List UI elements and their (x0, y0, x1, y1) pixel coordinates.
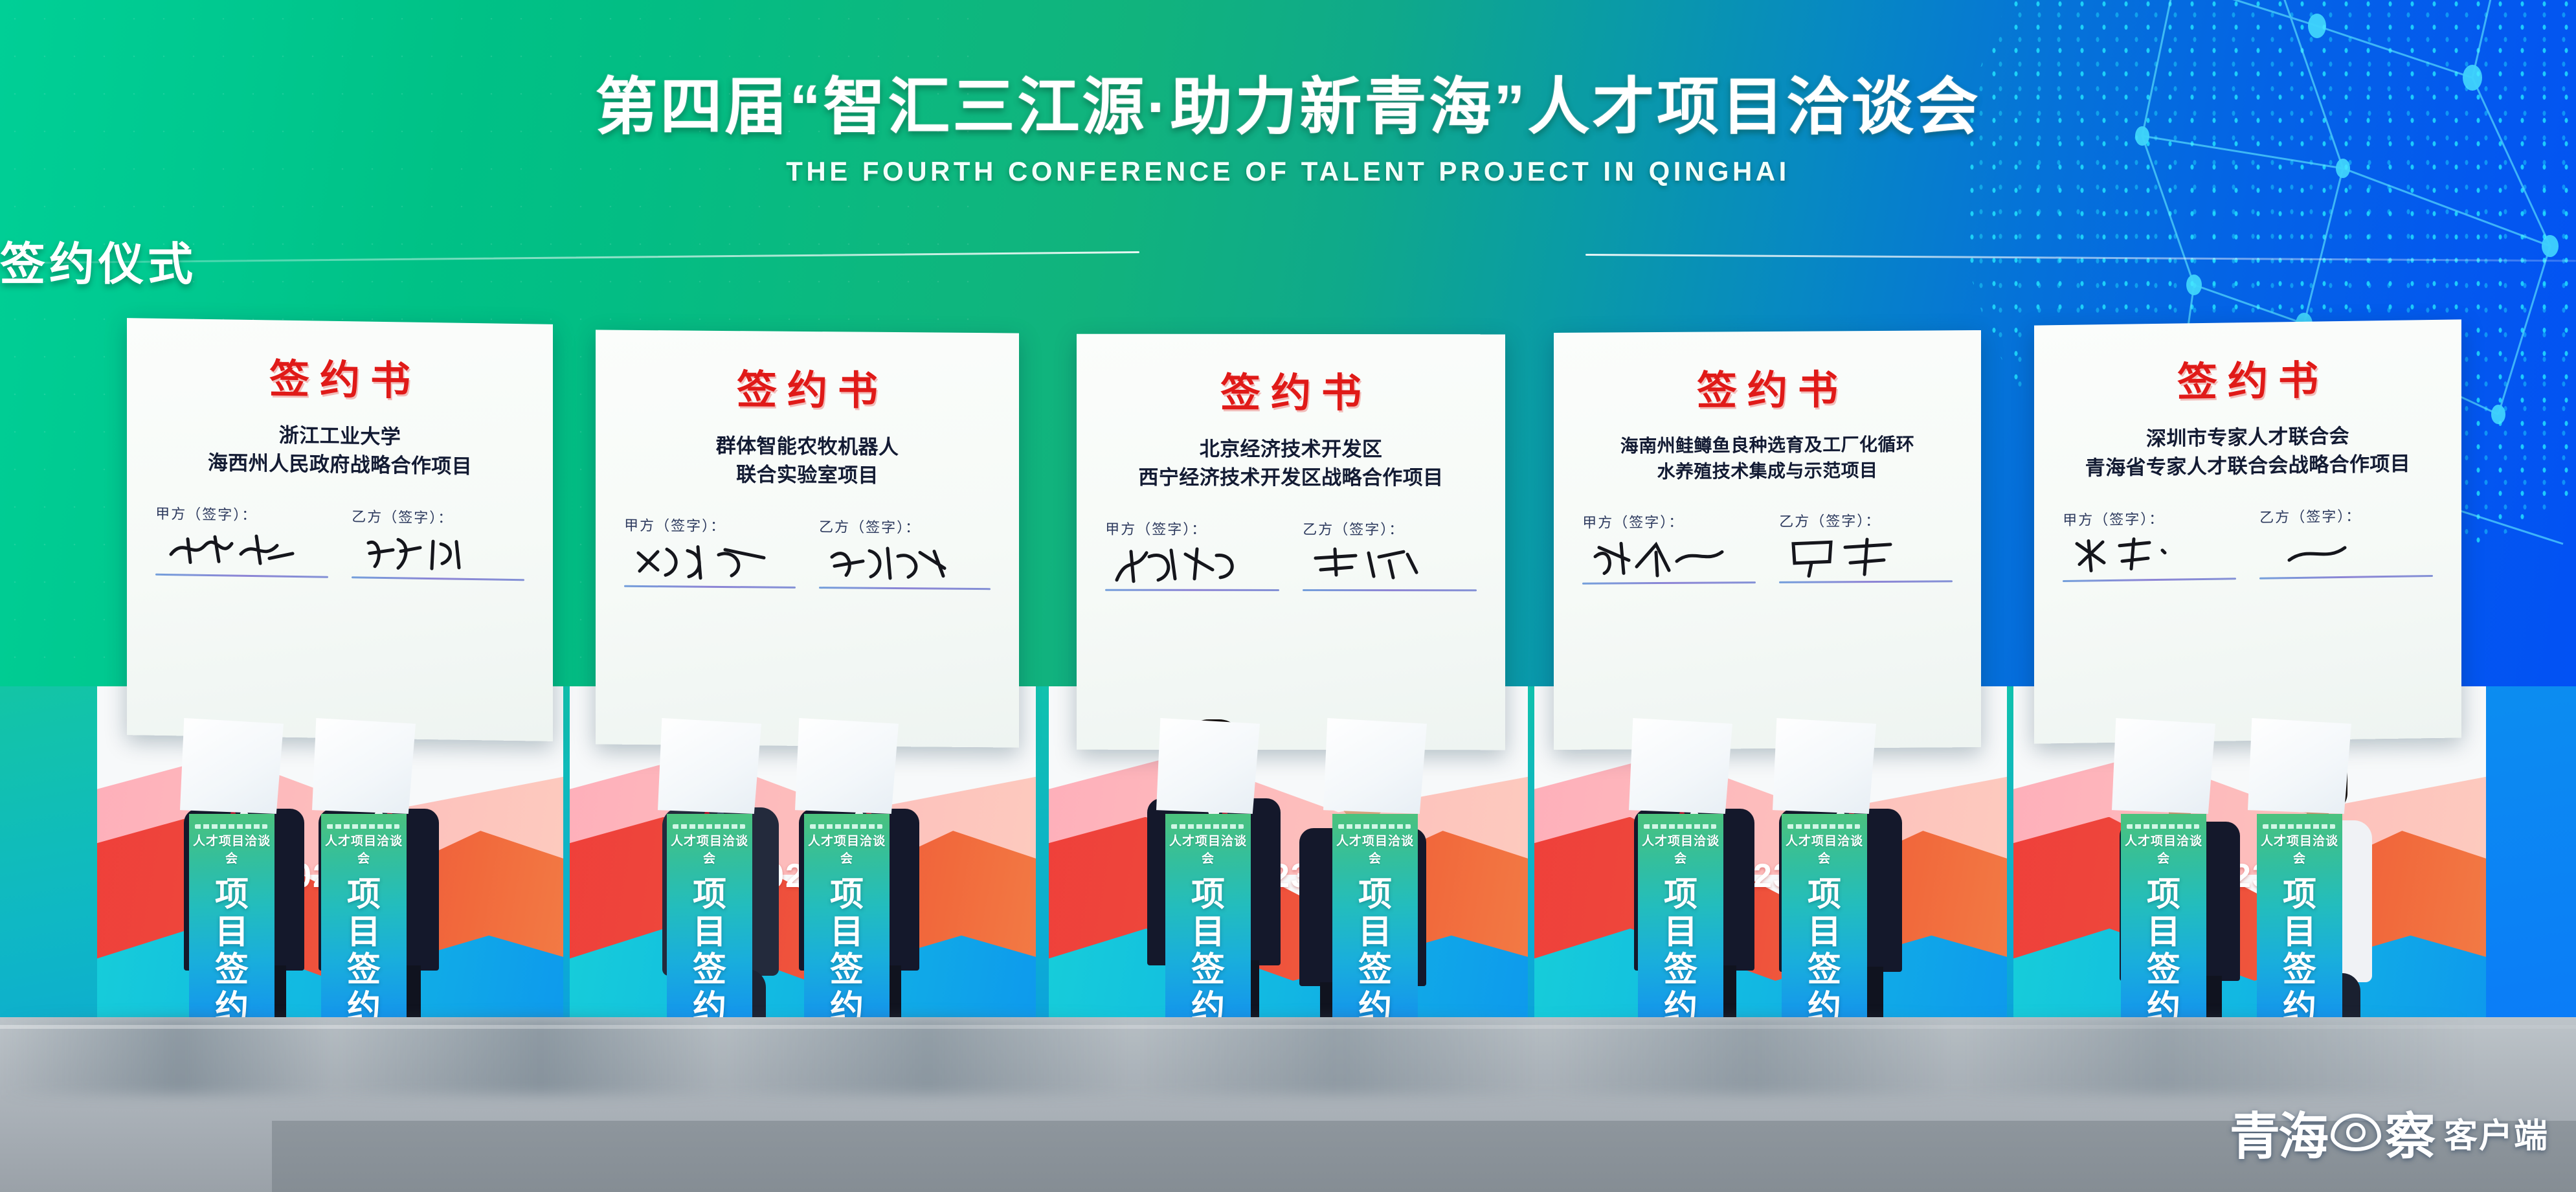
board-signature-area: 甲方（签字）： 乙方（签字）： (596, 513, 1019, 590)
project-line-2: 水养殖技术集成与示范项目 (1560, 457, 1975, 486)
podium-event-label: 人才项目洽谈会 (189, 831, 274, 866)
podium-decor-line (2127, 824, 2199, 829)
podium-char: 项 (2257, 876, 2342, 914)
party-a-block: 甲方（签字）： (155, 502, 328, 578)
party-a-block: 甲方（签字）： (2063, 506, 2236, 582)
podium-char: 目 (321, 914, 407, 951)
board-project-name: 深圳市专家人才联合会 青海省专家人才联合会战略合作项目 (2034, 420, 2461, 483)
podium-decor-line (673, 824, 745, 829)
signature-line (1303, 589, 1476, 591)
party-a-label: 甲方（签字）： (624, 514, 796, 536)
signing-board: 签约书 海南州鲑鳟鱼良种选育及工厂化循环 水养殖技术集成与示范项目 甲方（签字）… (1554, 330, 1981, 750)
party-b-label: 乙方（签字）： (1779, 509, 1953, 531)
board-signature-area: 甲方（签字）： 乙方（签字）： (1554, 508, 1981, 584)
watermark-brand-part2: 察 (2385, 1096, 2434, 1169)
podium-vertical-text: 项 目 签 约 (1782, 876, 1867, 1027)
podium-event-label: 人才项目洽谈会 (1638, 831, 1723, 866)
party-a-label: 甲方（签字）： (1105, 518, 1279, 539)
podium-desktop (2112, 718, 2215, 814)
podium-event-label: 人才项目洽谈会 (2121, 831, 2206, 866)
project-line-2: 海西州人民政府战略合作项目 (133, 447, 546, 482)
signing-board: 签约书 群体智能农牧机器人 联合实验室项目 甲方（签字）： 乙方（签字）： (596, 330, 1019, 747)
project-line-2: 联合实验室项目 (602, 460, 1013, 491)
board-project-name: 北京经济技术开发区 西宁经济技术开发区战略合作项目 (1077, 435, 1505, 493)
podium-vertical-text: 项 目 签 约 (667, 876, 752, 1027)
podium-decor-line (327, 824, 399, 829)
party-a-signature (2063, 527, 2236, 580)
watermark-brand-part1: 青海 (2230, 1096, 2327, 1169)
podium-char: 目 (1782, 914, 1867, 951)
signature-line (1105, 589, 1279, 591)
podium-desktop (1773, 718, 1876, 814)
podium-desktop (1323, 718, 1427, 814)
party-b-label: 乙方（签字）： (352, 505, 524, 528)
project-line-1: 海南州鲑鳟鱼良种选育及工厂化循环 (1560, 431, 1975, 460)
podium-char: 目 (2257, 914, 2342, 951)
podium-vertical-text: 项 目 签 约 (2121, 876, 2206, 1027)
watermark-app-label: 客户端 (2444, 1108, 2549, 1157)
podium-char: 目 (2121, 914, 2206, 951)
podium-char: 项 (804, 876, 890, 914)
party-a-signature (1582, 531, 1756, 583)
party-a-signature (624, 535, 796, 587)
podium-vertical-text: 项 目 签 约 (1332, 876, 1418, 1027)
board-project-name: 浙江工业大学 海西州人民政府战略合作项目 (127, 419, 553, 482)
party-a-signature (155, 523, 328, 576)
podium-char: 签 (189, 951, 274, 989)
party-a-label: 甲方（签字）： (1582, 510, 1756, 532)
party-b-block: 乙方（签字）： (1779, 509, 1953, 583)
podium-char: 签 (321, 951, 407, 989)
podium-event-label: 人才项目洽谈会 (321, 831, 407, 866)
podium-vertical-text: 项 目 签 约 (1165, 876, 1251, 1027)
watermark-brand: 青海 察 (2230, 1096, 2434, 1169)
podium-char: 签 (1332, 951, 1418, 989)
party-b-block: 乙方（签字）： (2259, 504, 2433, 579)
podium-desktop (312, 718, 416, 814)
board-project-name: 海南州鲑鳟鱼良种选育及工厂化循环 水养殖技术集成与示范项目 (1554, 431, 1981, 486)
stage-floor-edge (0, 1025, 2576, 1029)
podium-desktop (180, 718, 284, 814)
podium-vertical-text: 项 目 签 约 (804, 876, 890, 1027)
project-line-2: 青海省专家人才联合会战略合作项目 (2041, 449, 2455, 484)
podium-char: 签 (1165, 951, 1251, 989)
podium-char: 目 (1638, 914, 1723, 951)
podium-char: 签 (1638, 951, 1723, 989)
board-signature-area: 甲方（签字）： 乙方（签字）： (1077, 518, 1505, 592)
podium-vertical-text: 项 目 签 约 (2257, 876, 2342, 1027)
podium-char: 目 (189, 914, 274, 951)
podium-decor-line (2263, 824, 2335, 829)
party-b-label: 乙方（签字）： (2259, 504, 2433, 527)
podium-event-label: 人才项目洽谈会 (804, 831, 890, 866)
party-b-signature (1303, 539, 1476, 589)
signing-board: 签约书 深圳市专家人才联合会 青海省专家人才联合会战略合作项目 甲方（签字）： … (2034, 319, 2461, 743)
podium-event-label: 人才项目洽谈会 (1165, 831, 1251, 866)
podium-desktop (1156, 718, 1260, 814)
podium-desktop (1629, 718, 1732, 814)
party-b-block: 乙方（签字）： (352, 505, 524, 581)
project-line-1: 北京经济技术开发区 (1083, 435, 1499, 464)
board-heading: 签约书 (1077, 360, 1505, 419)
podium-desktop (795, 718, 899, 814)
podium-char: 项 (189, 876, 274, 914)
party-b-block: 乙方（签字）： (819, 515, 991, 590)
podium-decor-line (1787, 824, 1860, 829)
party-b-block: 乙方（签字）： (1303, 518, 1476, 591)
podium-char: 目 (804, 914, 890, 951)
board-signature-area: 甲方（签字）： 乙方（签字）： (2034, 503, 2461, 582)
board-heading: 签约书 (1554, 356, 1981, 417)
board-signature-area: 甲方（签字）： 乙方（签字）： (127, 502, 553, 581)
podium-desktop (2248, 718, 2351, 814)
party-b-signature (819, 536, 991, 588)
podium-event-label: 人才项目洽谈会 (2257, 831, 2342, 866)
watermark: 青海 察 客户端 (2230, 1096, 2549, 1169)
podium-char: 项 (1638, 876, 1723, 914)
podium-char: 目 (1165, 914, 1251, 951)
podium-event-label: 人才项目洽谈会 (667, 831, 752, 866)
board-heading: 签约书 (2034, 345, 2461, 409)
podium-char: 目 (1332, 914, 1418, 951)
podium-char: 签 (1782, 951, 1867, 989)
board-heading: 签约书 (127, 344, 553, 409)
party-a-block: 甲方（签字）： (1582, 510, 1756, 585)
podium-char: 签 (2121, 951, 2206, 989)
party-b-signature (352, 526, 524, 579)
party-a-signature (1105, 539, 1279, 589)
party-a-block: 甲方（签字）： (1105, 518, 1279, 591)
podium-event-label: 人才项目洽谈会 (1782, 831, 1867, 866)
eye-icon (2331, 1114, 2381, 1151)
floor-shadows (0, 1017, 2576, 1095)
podium-char: 项 (1782, 876, 1867, 914)
podium-vertical-text: 项 目 签 约 (189, 876, 274, 1027)
podium-decor-line (1171, 824, 1244, 829)
signing-board: 签约书 北京经济技术开发区 西宁经济技术开发区战略合作项目 甲方（签字）： 乙方… (1077, 334, 1505, 750)
party-b-label: 乙方（签字）： (819, 515, 991, 537)
podium-char: 项 (1332, 876, 1418, 914)
podium-decor-line (1338, 824, 1411, 829)
podium-event-label: 人才项目洽谈会 (1332, 831, 1418, 866)
party-b-signature (1779, 530, 1953, 581)
party-b-label: 乙方（签字）： (1303, 518, 1476, 539)
podium-char: 目 (667, 914, 752, 951)
podium-char: 项 (2121, 876, 2206, 914)
podium-char: 签 (667, 951, 752, 989)
podium-char: 签 (804, 951, 890, 989)
project-line-2: 西宁经济技术开发区战略合作项目 (1083, 464, 1499, 493)
podium-char: 项 (1165, 876, 1251, 914)
podium-decor-line (810, 824, 882, 829)
board-heading: 签约书 (596, 355, 1019, 417)
signing-board: 签约书 浙江工业大学 海西州人民政府战略合作项目 甲方（签字）： 乙方（签字）： (127, 318, 553, 741)
board-project-name: 群体智能农牧机器人 联合实验室项目 (596, 431, 1019, 491)
podium-vertical-text: 项 目 签 约 (1638, 876, 1723, 1027)
event-photo-stage: 第四届“智汇三江源·助力新青海”人才项目洽谈会 THE FOURTH CONFE… (0, 0, 2576, 1192)
podium-decor-line (195, 824, 267, 829)
party-a-block: 甲方（签字）： (624, 514, 796, 589)
podium-decor-line (1644, 824, 1716, 829)
podium-vertical-text: 项 目 签 约 (321, 876, 407, 1027)
podium-char: 项 (667, 876, 752, 914)
project-line-1: 群体智能农牧机器人 (602, 431, 1013, 463)
podium-char: 项 (321, 876, 407, 914)
podium-char: 签 (2257, 951, 2342, 989)
party-a-label: 甲方（签字）： (2063, 506, 2236, 530)
party-a-label: 甲方（签字）： (155, 502, 328, 526)
party-b-signature (2259, 524, 2433, 578)
podium-desktop (658, 718, 761, 814)
